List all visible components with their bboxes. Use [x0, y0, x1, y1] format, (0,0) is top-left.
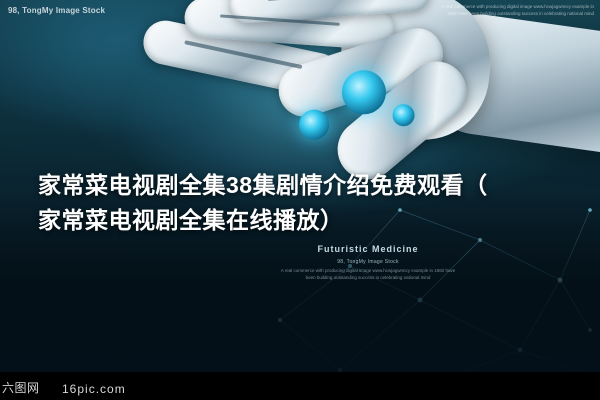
headline-line-1: 家常菜电视剧全集38集剧情介绍免费观看（ — [38, 168, 572, 203]
watermark-top-left: 98, TongMy Image Stock — [8, 6, 105, 15]
glowing-joint-icon — [298, 108, 331, 141]
center-brand-title: Futuristic Medicine — [278, 243, 458, 255]
watermark-center-brand: Futuristic Medicine 98, TongMy Image Sto… — [278, 243, 458, 282]
footer-logo-text: 六图网 — [2, 379, 40, 396]
center-brand-fineprint: A real commerce with producing digital i… — [278, 268, 458, 282]
center-brand-subtitle: 98, TongMy Image Stock — [278, 259, 458, 265]
footer-bar: 六图网 16pic.com — [0, 372, 600, 400]
watermark-top-right: A real commerce with producing digital i… — [434, 4, 594, 18]
headline-overlay: 家常菜电视剧全集38集剧情介绍免费观看（ 家常菜电视剧全集在线播放） — [38, 168, 572, 237]
headline-line-2: 家常菜电视剧全集在线播放） — [38, 203, 572, 238]
image-canvas: 98, TongMy Image Stock A real commerce w… — [0, 0, 600, 400]
footer-site-text: 16pic.com — [62, 382, 126, 396]
